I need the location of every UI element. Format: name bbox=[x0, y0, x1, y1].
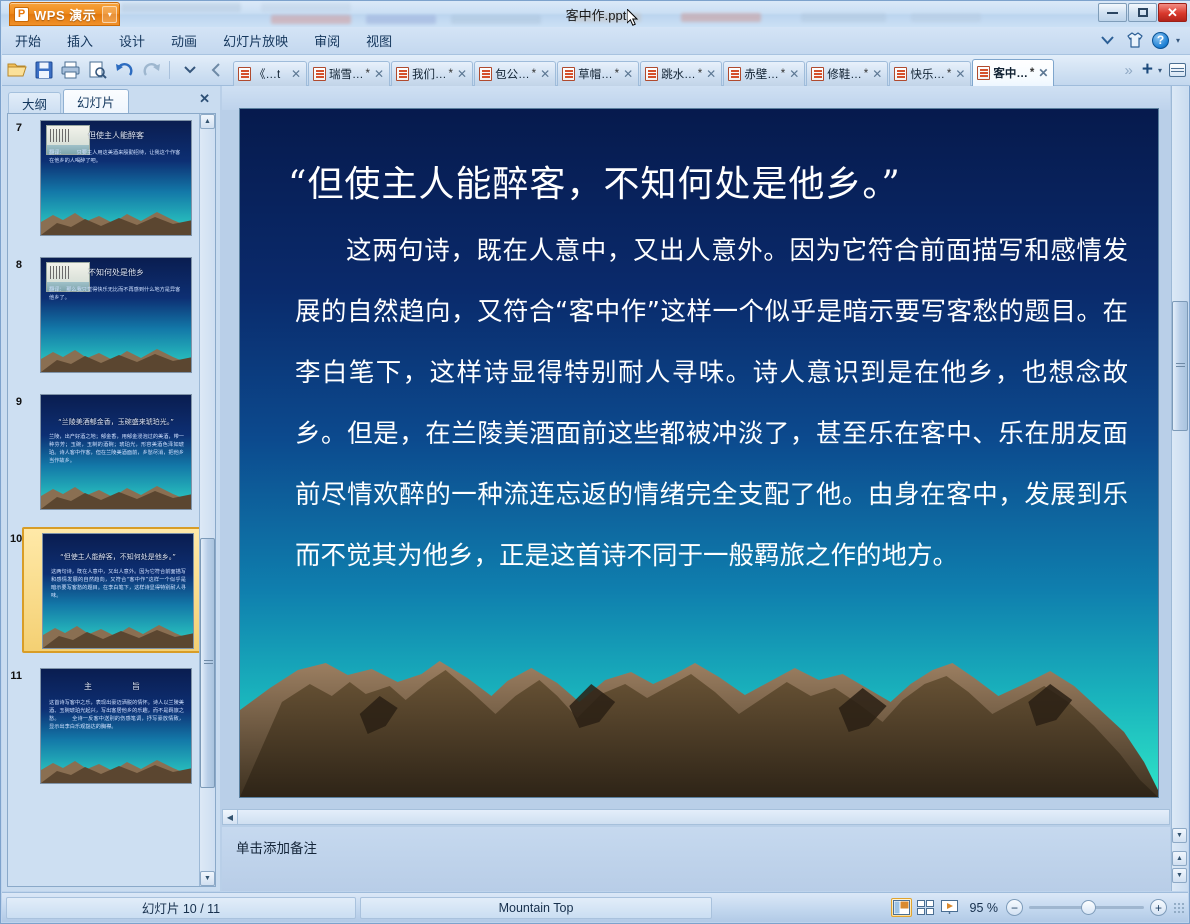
thumbnail-body: 翻译： 那么我只觉得快乐无比而不再感到什么地方是异客他乡了。 bbox=[49, 286, 184, 302]
new-tab-caret-icon[interactable]: ▾ bbox=[1158, 66, 1166, 75]
thumbnail-preview[interactable]: “但使主人能醉客，不知何处是他乡。” 这两句诗，既在人意中，又出人意外。因为它符… bbox=[42, 533, 194, 649]
thumbnail-number: 10 bbox=[10, 533, 22, 545]
close-tab-icon[interactable]: ✕ bbox=[372, 67, 386, 81]
doc-tab-label: 修鞋… bbox=[827, 66, 862, 82]
zoom-slider-knob[interactable] bbox=[1081, 900, 1096, 915]
doc-tab-label: 赤壁… bbox=[744, 66, 779, 82]
close-tab-icon[interactable]: ✕ bbox=[870, 67, 884, 81]
zoom-out-button[interactable]: − bbox=[1006, 899, 1023, 916]
slide-canvas-wrapper: “但使主人能醉客，不知何处是他乡。” 这两句诗，既在人意中，又出人意外。因为它符… bbox=[222, 112, 1170, 806]
slide-navigator-panel: 大纲 幻灯片 ✕ 7 但使主人能醉客 翻译： 只要主人用这美酒来殷勤招待，让我这… bbox=[2, 86, 220, 891]
scrollbar-thumb[interactable] bbox=[200, 538, 215, 788]
slide-canvas[interactable]: “但使主人能醉客，不知何处是他乡。” 这两句诗，既在人意中，又出人意外。因为它符… bbox=[239, 108, 1159, 798]
dropdown-caret-icon[interactable]: ▾ bbox=[1176, 36, 1184, 45]
ppt-file-icon bbox=[396, 67, 409, 81]
ppt-file-icon bbox=[479, 67, 492, 81]
thumbnail-body: 这首诗写客中之乐，表现出豪迈洒脱的情怀。诗人以兰陵美酒、玉碗琥珀光起兴，写出客居… bbox=[49, 699, 184, 731]
close-tab-icon[interactable]: ✕ bbox=[787, 67, 801, 81]
thumbnail-title: 但使主人能醉客 bbox=[41, 130, 191, 141]
slide-title-text[interactable]: “但使主人能醉客，不知何处是他乡。” bbox=[288, 155, 1118, 207]
ppt-file-icon bbox=[645, 67, 658, 81]
doc-tab-label: 客中… bbox=[993, 65, 1028, 81]
status-bar: 幻灯片 10 / 11 Mountain Top bbox=[2, 892, 1188, 922]
doc-tab-4[interactable]: 草帽… * ✕ bbox=[557, 61, 639, 86]
doc-tab-7[interactable]: 修鞋… * ✕ bbox=[806, 61, 888, 86]
window-controls: ✕ bbox=[1098, 3, 1187, 22]
menu-item-review[interactable]: 审阅 bbox=[301, 27, 353, 54]
doc-tab-6[interactable]: 赤壁… * ✕ bbox=[723, 61, 805, 86]
help-icon[interactable]: ? bbox=[1152, 32, 1169, 49]
thumbnail-item[interactable]: 11 主 旨 这首诗写客中之乐，表现出豪迈洒脱的情怀。诗人以兰陵美酒、玉碗琥珀光… bbox=[22, 668, 199, 799]
thumbnail-body: 翻译： 只要主人用这美酒来殷勤招待，让我这个作客在他乡的人喝醉了吧。 bbox=[49, 149, 184, 165]
modified-indicator: * bbox=[781, 68, 785, 80]
thumbnail-title: “但使主人能醉客，不知何处是他乡。” bbox=[43, 552, 193, 562]
thumbnail-scroll-region: 7 但使主人能醉客 翻译： 只要主人用这美酒来殷勤招待，让我这个作客在他乡的人喝… bbox=[8, 114, 199, 886]
menu-item-start[interactable]: 开始 bbox=[2, 27, 54, 54]
redo-icon[interactable] bbox=[139, 58, 164, 83]
scroll-down-button[interactable]: ▼ bbox=[200, 871, 215, 886]
slide-sorter-view-button[interactable] bbox=[915, 898, 936, 917]
document-tab-strip: 《…t ✕ 瑞雪… * ✕ 我们… * ✕ 包公… * ✕ bbox=[233, 55, 1121, 86]
slide-body-text[interactable]: 这两句诗，既在人意中，又出人意外。因为它符合前面描写和感情发展的自然趋向，又符合… bbox=[295, 221, 1128, 587]
ppt-file-icon bbox=[313, 67, 326, 81]
doc-tab-label: 包公… bbox=[495, 66, 530, 82]
thumbnail-item-selected[interactable]: 10 “但使主人能醉客，不知何处是他乡。” 这两句诗，既在人意中，又出人意外。因… bbox=[22, 531, 199, 662]
menu-item-insert[interactable]: 插入 bbox=[54, 27, 106, 54]
zoom-in-button[interactable]: + bbox=[1150, 899, 1167, 916]
ppt-file-icon bbox=[894, 67, 907, 81]
close-tab-icon[interactable]: ✕ bbox=[289, 67, 303, 81]
doc-tab-0[interactable]: 《…t ✕ bbox=[233, 61, 307, 86]
doc-tab-label: 我们… bbox=[412, 66, 447, 82]
slide-vertical-scrollbar[interactable]: ▼ ▲ ▼ bbox=[1171, 86, 1188, 891]
doc-tab-5[interactable]: 跳水… * ✕ bbox=[640, 61, 722, 86]
close-tab-icon[interactable]: ✕ bbox=[538, 67, 552, 81]
zoom-level-label: 95 % bbox=[970, 901, 999, 915]
doc-tab-8[interactable]: 快乐… * ✕ bbox=[889, 61, 971, 86]
document-title: 客中作.ppt bbox=[1, 5, 1190, 24]
print-icon[interactable] bbox=[58, 58, 83, 83]
minimize-button[interactable] bbox=[1098, 3, 1127, 22]
toolbar: 《…t ✕ 瑞雪… * ✕ 我们… * ✕ 包公… * ✕ bbox=[2, 55, 1190, 86]
navigator-vertical-scrollbar[interactable]: ▲ ▼ bbox=[199, 114, 215, 886]
undo-icon[interactable] bbox=[112, 58, 137, 83]
doc-tab-1[interactable]: 瑞雪… * ✕ bbox=[308, 61, 390, 86]
close-tab-icon[interactable]: ✕ bbox=[953, 67, 967, 81]
close-tab-icon[interactable]: ✕ bbox=[1036, 66, 1050, 80]
thumbnail-item[interactable]: 9 “兰陵美酒郁金香，玉碗盛来琥珀光。” 兰陵，出产好酒之地；郁金香，用郁金浸泡… bbox=[22, 394, 199, 525]
close-panel-icon[interactable]: ✕ bbox=[199, 91, 210, 107]
scrollbar-grip-icon bbox=[1176, 363, 1185, 369]
slideshow-view-button[interactable] bbox=[939, 898, 960, 917]
zoom-slider[interactable] bbox=[1029, 906, 1144, 909]
close-tab-icon[interactable]: ✕ bbox=[704, 67, 718, 81]
customize-caret-icon[interactable] bbox=[177, 58, 202, 83]
next-slide-button[interactable]: ▼ bbox=[1172, 868, 1187, 883]
modified-indicator: * bbox=[615, 68, 619, 80]
tab-outline[interactable]: 大纲 bbox=[8, 92, 61, 113]
normal-view-button[interactable] bbox=[891, 898, 912, 917]
collapse-ribbon-icon[interactable] bbox=[204, 58, 229, 83]
thumbnail-preview[interactable]: “兰陵美酒郁金香，玉碗盛来琥珀光。” 兰陵，出产好酒之地；郁金香，用郁金浸泡过的… bbox=[40, 394, 192, 510]
scrollbar-thumb[interactable] bbox=[1172, 301, 1188, 431]
doc-tab-2[interactable]: 我们… * ✕ bbox=[391, 61, 473, 86]
slide-thumbnail-list: 7 但使主人能醉客 翻译： 只要主人用这美酒来殷勤招待，让我这个作客在他乡的人喝… bbox=[7, 113, 216, 887]
doc-tab-label: 快乐… bbox=[910, 66, 945, 82]
mountain-graphic-icon bbox=[43, 622, 194, 648]
menu-item-slideshow[interactable]: 幻灯片放映 bbox=[210, 27, 301, 54]
ppt-file-icon bbox=[977, 66, 990, 80]
thumbnail-preview[interactable]: 但使主人能醉客 翻译： 只要主人用这美酒来殷勤招待，让我这个作客在他乡的人喝醉了… bbox=[40, 120, 192, 236]
mountain-graphic-icon bbox=[240, 622, 1158, 797]
scroll-left-button[interactable]: ◀ bbox=[223, 810, 238, 824]
menu-item-design[interactable]: 设计 bbox=[106, 27, 158, 54]
menu-bar: 开始 插入 设计 动画 幻灯片放映 审阅 视图 ? ▾ bbox=[2, 27, 1190, 55]
modified-indicator: * bbox=[449, 68, 453, 80]
menu-item-view[interactable]: 视图 bbox=[353, 27, 405, 54]
mountain-graphic-icon bbox=[41, 483, 192, 509]
thumbnail-number: 8 bbox=[10, 259, 22, 271]
menu-item-animation[interactable]: 动画 bbox=[158, 27, 210, 54]
doc-tab-label: 跳水… bbox=[661, 66, 696, 82]
save-icon[interactable] bbox=[31, 58, 56, 83]
thumbnail-preview[interactable]: 主 旨 这首诗写客中之乐，表现出豪迈洒脱的情怀。诗人以兰陵美酒、玉碗琥珀光起兴，… bbox=[40, 668, 192, 784]
mountain-graphic-icon bbox=[41, 346, 192, 372]
thumbnail-item[interactable]: 8 不知何处是他乡 翻译： 那么我只觉得快乐无比而不再感到什么地方是异客他乡了。 bbox=[22, 257, 199, 388]
mouse-cursor-icon bbox=[627, 9, 640, 27]
thumbnail-number: 11 bbox=[10, 670, 22, 682]
slide-area-top-gutter bbox=[222, 86, 1170, 110]
doc-tab-9-active[interactable]: 客中… * ✕ bbox=[972, 59, 1054, 86]
thumbnail-body: 这两句诗，既在人意中，又出人意外。因为它符合前面描写和感情发展的自然趋向，又符合… bbox=[51, 568, 186, 600]
thumbnail-number: 9 bbox=[10, 396, 22, 408]
close-tab-icon[interactable]: ✕ bbox=[621, 67, 635, 81]
doc-tab-label: 《…t bbox=[254, 66, 285, 82]
thumbnail-title: “兰陵美酒郁金香，玉碗盛来琥珀光。” bbox=[41, 417, 191, 427]
thumbnail-title: 不知何处是他乡 bbox=[41, 267, 191, 278]
toolbar-right: » + ▾ bbox=[1121, 60, 1190, 80]
ppt-file-icon bbox=[238, 67, 251, 81]
maximize-button[interactable] bbox=[1128, 3, 1157, 22]
tshirt-skin-icon[interactable] bbox=[1125, 30, 1145, 50]
notes-placeholder[interactable]: 单击添加备注 bbox=[222, 827, 1170, 857]
modified-indicator: * bbox=[698, 68, 702, 80]
thumbnail-title: 主 旨 bbox=[41, 681, 191, 692]
print-preview-icon[interactable] bbox=[85, 58, 110, 83]
doc-tab-3[interactable]: 包公… * ✕ bbox=[474, 61, 556, 86]
ppt-file-icon bbox=[728, 67, 741, 81]
title-bar: P WPS 演示 ▾ 客中作.ppt ✕ bbox=[1, 1, 1190, 27]
thumbnail-preview[interactable]: 不知何处是他乡 翻译： 那么我只觉得快乐无比而不再感到什么地方是异客他乡了。 bbox=[40, 257, 192, 373]
mountain-graphic-icon bbox=[41, 209, 192, 235]
modified-indicator: * bbox=[947, 68, 951, 80]
menu-right-icons: ? ▾ bbox=[1098, 30, 1184, 50]
slide-counter: 幻灯片 10 / 11 bbox=[6, 897, 356, 919]
resize-grip-icon[interactable] bbox=[1173, 902, 1185, 914]
navigator-tabs: 大纲 幻灯片 ✕ bbox=[2, 86, 220, 113]
modified-indicator: * bbox=[1030, 67, 1034, 79]
modified-indicator: * bbox=[366, 68, 370, 80]
mountain-graphic-icon bbox=[41, 757, 192, 783]
tab-slides[interactable]: 幻灯片 bbox=[63, 89, 129, 113]
notes-horizontal-scrollbar[interactable]: ◀ bbox=[222, 809, 1170, 825]
new-tab-button[interactable]: + bbox=[1137, 60, 1158, 80]
slide-editing-area: “但使主人能醉客，不知何处是他乡。” 这两句诗，既在人意中，又出人意外。因为它符… bbox=[220, 86, 1188, 891]
design-template-name: Mountain Top bbox=[360, 897, 712, 919]
open-icon[interactable] bbox=[4, 58, 29, 83]
modified-indicator: * bbox=[864, 68, 868, 80]
scroll-down-button[interactable]: ▼ bbox=[1172, 828, 1187, 843]
thumbnail-body: 兰陵，出产好酒之地；郁金香，用郁金浸泡过的美酒，带一种芬芳；玉碗，玉制的酒碗；琥… bbox=[49, 433, 184, 465]
modified-indicator: * bbox=[532, 68, 536, 80]
notes-pane[interactable]: 单击添加备注 bbox=[222, 827, 1170, 891]
close-button[interactable]: ✕ bbox=[1158, 3, 1187, 22]
thumbnail-number: 7 bbox=[10, 122, 22, 134]
ppt-file-icon bbox=[562, 67, 575, 81]
wps-presentation-window: P WPS 演示 ▾ 客中作.ppt ✕ 开始 插入 设计 动画 幻灯片放映 审… bbox=[0, 0, 1190, 924]
ppt-file-icon bbox=[811, 67, 824, 81]
window-list-icon[interactable] bbox=[1169, 63, 1186, 77]
scrollbar-grip-icon bbox=[204, 660, 213, 666]
doc-tab-label: 草帽… bbox=[578, 66, 613, 82]
thumbnail-item[interactable]: 7 但使主人能醉客 翻译： 只要主人用这美酒来殷勤招待，让我这个作客在他乡的人喝… bbox=[22, 120, 199, 251]
close-tab-icon[interactable]: ✕ bbox=[455, 67, 469, 81]
toolbar-divider bbox=[169, 61, 170, 79]
previous-slide-button[interactable]: ▲ bbox=[1172, 851, 1187, 866]
doc-tab-label: 瑞雪… bbox=[329, 66, 364, 82]
scroll-up-button[interactable]: ▲ bbox=[200, 114, 215, 129]
more-tabs-icon[interactable]: » bbox=[1121, 62, 1137, 79]
chevron-down-icon[interactable] bbox=[1098, 30, 1118, 50]
